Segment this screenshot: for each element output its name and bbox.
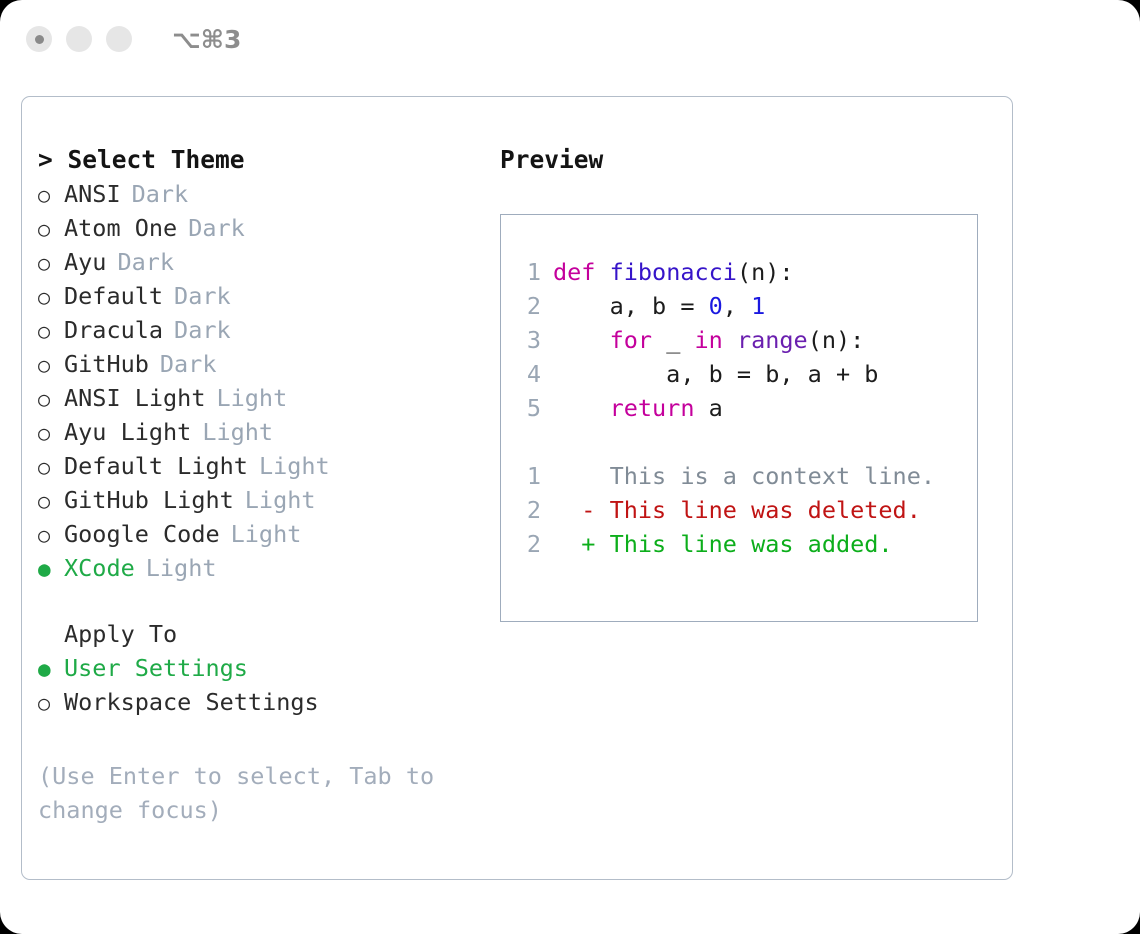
line-number: 2 (515, 527, 541, 561)
section-spacer (38, 585, 508, 617)
apply-to-label: Apply To (64, 617, 177, 651)
keyboard-shortcut-label: ⌥⌘3 (172, 25, 241, 54)
radio-unselected-icon: ○ (38, 280, 64, 314)
window-dot-icon[interactable] (106, 26, 132, 52)
radio-unselected-icon: ○ (38, 314, 64, 348)
code-token: def (553, 258, 595, 286)
line-number: 2 (515, 289, 541, 323)
radio-unselected-icon: ○ (38, 450, 64, 484)
theme-list-item[interactable]: ○DefaultDark (38, 279, 508, 313)
theme-list-item[interactable]: ○GitHubDark (38, 347, 508, 381)
theme-picker-panel: > Select Theme ○ANSIDark○Atom OneDark○Ay… (21, 96, 1013, 880)
line-number: 1 (515, 459, 541, 493)
code-token: a, b = (553, 292, 709, 320)
code-token: a (694, 394, 722, 422)
radio-unselected-icon: ○ (38, 686, 64, 720)
theme-name: GitHub (64, 347, 149, 381)
theme-variant: Light (202, 415, 273, 449)
theme-list-item[interactable]: ○Atom OneDark (38, 211, 508, 245)
apply-to-list: ●User Settings○Workspace Settings (38, 651, 508, 719)
theme-list-item[interactable]: ○Google CodeLight (38, 517, 508, 551)
preview-column: Preview 1def fibonacci(n):2 a, b = 0, 13… (500, 143, 1000, 622)
code-token (553, 394, 610, 422)
theme-list-item[interactable]: ○ANSIDark (38, 177, 508, 211)
theme-name: Default Light (64, 449, 248, 483)
theme-list-item[interactable]: ○DraculaDark (38, 313, 508, 347)
code-token: _ (652, 326, 694, 354)
radio-unselected-icon: ○ (38, 348, 64, 382)
line-number: 3 (515, 323, 541, 357)
radio-unselected-icon: ○ (38, 212, 64, 246)
preview-box: 1def fibonacci(n):2 a, b = 0, 13 for _ i… (500, 214, 978, 622)
theme-name: Google Code (64, 517, 220, 551)
diff-line: 2 + This line was added. (515, 527, 935, 561)
theme-name: Dracula (64, 313, 163, 347)
window-dot-active-icon[interactable] (26, 26, 52, 52)
keyboard-hint: (Use Enter to select, Tab to change focu… (38, 759, 448, 827)
code-line: 5 return a (515, 391, 935, 425)
code-token: 1 (751, 292, 765, 320)
code-line: 2 a, b = 0, 1 (515, 289, 935, 323)
theme-variant: Light (231, 517, 302, 551)
theme-variant: Dark (117, 245, 174, 279)
window-dot-icon[interactable] (66, 26, 92, 52)
theme-name: Ayu (64, 245, 106, 279)
code-token: (n): (808, 326, 865, 354)
apply-to-header: ○ Apply To (38, 617, 508, 651)
theme-name: Default (64, 279, 163, 313)
theme-list-item[interactable]: ○Ayu LightLight (38, 415, 508, 449)
apply-to-item[interactable]: ○Workspace Settings (38, 685, 508, 719)
code-token (553, 326, 610, 354)
theme-name: GitHub Light (64, 483, 234, 517)
theme-name: ANSI Light (64, 381, 205, 415)
theme-list-item[interactable]: ○AyuDark (38, 245, 508, 279)
theme-variant: Light (245, 483, 316, 517)
code-token: 0 (709, 292, 723, 320)
diff-text: - This line was deleted. (553, 496, 921, 524)
theme-list: ○ANSIDark○Atom OneDark○AyuDark○DefaultDa… (38, 177, 508, 585)
theme-variant: Dark (188, 211, 245, 245)
code-token: in (695, 326, 723, 354)
theme-list-item[interactable]: ●XCodeLight (38, 551, 508, 585)
title-bar: ⌥⌘3 (0, 0, 1140, 78)
code-line: 4 a, b = b, a + b (515, 357, 935, 391)
theme-variant: Light (216, 381, 287, 415)
line-number: 5 (515, 391, 541, 425)
code-line: 3 for _ in range(n): (515, 323, 935, 357)
line-number: 1 (515, 255, 541, 289)
theme-list-item[interactable]: ○ANSI LightLight (38, 381, 508, 415)
theme-variant: Light (259, 449, 330, 483)
diff-line: 2 - This line was deleted. (515, 493, 935, 527)
code-token: a, b = b, a + b (553, 360, 878, 388)
code-preview: 1def fibonacci(n):2 a, b = 0, 13 for _ i… (515, 255, 935, 561)
code-token (595, 258, 609, 286)
code-token: , (723, 292, 751, 320)
theme-list-item[interactable]: ○Default LightLight (38, 449, 508, 483)
code-token: (n): (737, 258, 794, 286)
apply-to-name: User Settings (64, 651, 248, 685)
code-token: for (610, 326, 652, 354)
spacer-bullet-icon: ○ (38, 618, 64, 652)
theme-variant: Dark (132, 177, 189, 211)
theme-name: Ayu Light (64, 415, 191, 449)
radio-unselected-icon: ○ (38, 178, 64, 212)
theme-name: ANSI (64, 177, 121, 211)
radio-unselected-icon: ○ (38, 246, 64, 280)
theme-variant: Dark (174, 279, 231, 313)
app-window: ⌥⌘3 > Select Theme ○ANSIDark○Atom OneDar… (0, 0, 1140, 934)
diff-line: 1 This is a context line. (515, 459, 935, 493)
line-number: 2 (515, 493, 541, 527)
select-theme-header: > Select Theme (38, 143, 508, 177)
theme-variant: Light (146, 551, 217, 585)
code-token (723, 326, 737, 354)
theme-name: Atom One (64, 211, 177, 245)
radio-selected-icon: ● (38, 652, 64, 686)
code-token: return (610, 394, 695, 422)
theme-variant: Dark (174, 313, 231, 347)
theme-name: XCode (64, 551, 135, 585)
radio-unselected-icon: ○ (38, 382, 64, 416)
radio-unselected-icon: ○ (38, 416, 64, 450)
code-line: 1def fibonacci(n): (515, 255, 935, 289)
theme-list-column: > Select Theme ○ANSIDark○Atom OneDark○Ay… (38, 143, 508, 827)
preview-title: Preview (500, 143, 1000, 177)
line-number: 4 (515, 357, 541, 391)
code-blank-line (515, 425, 935, 459)
apply-to-name: Workspace Settings (64, 685, 319, 719)
apply-to-item[interactable]: ●User Settings (38, 651, 508, 685)
radio-unselected-icon: ○ (38, 518, 64, 552)
hint-spacer (38, 719, 508, 753)
theme-variant: Dark (160, 347, 217, 381)
radio-selected-icon: ● (38, 552, 64, 586)
radio-unselected-icon: ○ (38, 484, 64, 518)
theme-list-item[interactable]: ○GitHub LightLight (38, 483, 508, 517)
diff-text: + This line was added. (553, 530, 893, 558)
code-token: range (737, 326, 808, 354)
code-token: fibonacci (610, 258, 737, 286)
diff-text: This is a context line. (553, 462, 935, 490)
